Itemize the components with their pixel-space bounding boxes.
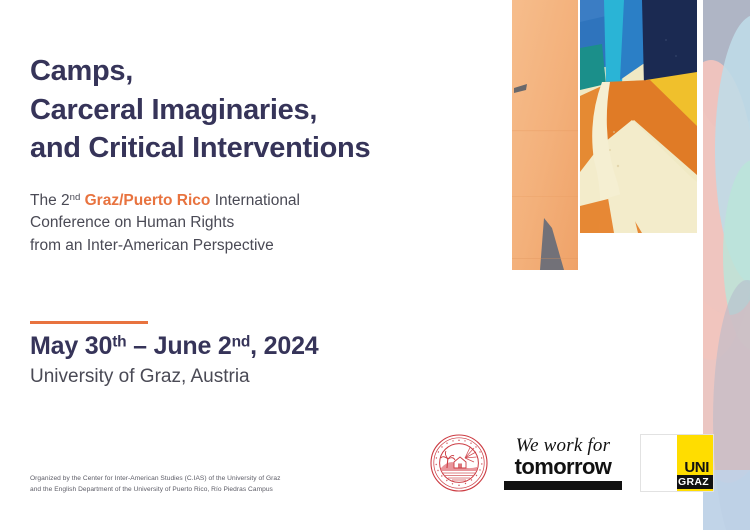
accent-divider: [30, 321, 148, 324]
wwft-line-1: We work for: [504, 436, 622, 455]
page-title: Camps, Carceral Imaginaries, and Critica…: [30, 52, 490, 168]
date-start-ordinal: th: [112, 333, 126, 350]
wwft-underline-bar: [504, 481, 622, 490]
uni-graz-logo: UNI GRAZ: [640, 434, 714, 492]
organizer-line-2: and the English Department of the Univer…: [30, 485, 280, 496]
we-work-for-tomorrow-logo: We work for tomorrow: [504, 436, 622, 490]
uni-graz-uni-text: UNI: [684, 460, 709, 475]
subtitle-line-3: from an Inter-American Perspective: [30, 235, 460, 257]
subtitle-prefix: The 2: [30, 192, 70, 209]
subtitle-line-2: Conference on Human Rights: [30, 212, 460, 234]
upr-seal-logo: [430, 434, 488, 492]
uni-graz-graz-text: GRAZ: [678, 477, 709, 488]
subtitle-ordinal: nd: [70, 192, 81, 203]
conference-dates: May 30th – June 2nd, 2024: [30, 332, 318, 361]
conference-poster: Camps, Carceral Imaginaries, and Critica…: [0, 0, 750, 530]
subtitle-line-1: The 2nd Graz/Puerto Rico International: [30, 190, 460, 212]
date-separator: –: [126, 332, 153, 360]
organizer-credits: Organized by the Center for Inter-Americ…: [30, 474, 280, 495]
wwft-line-2: tomorrow: [504, 455, 622, 478]
headline-line-2: Carceral Imaginaries,: [30, 91, 490, 130]
headline-line-3: and Critical Interventions: [30, 129, 490, 168]
date-end-ordinal: nd: [232, 333, 251, 350]
subtitle-accent: Graz/Puerto Rico: [85, 192, 211, 209]
date-start: May 30: [30, 332, 112, 360]
date-end: June 2: [154, 332, 232, 360]
headline-line-1: Camps,: [30, 52, 490, 91]
subtitle-suffix: International: [215, 192, 300, 209]
conference-subtitle: The 2nd Graz/Puerto Rico International C…: [30, 190, 460, 257]
logo-row: We work for tomorrow UNI GRAZ: [430, 432, 720, 494]
mural-photo-strip-orange: [512, 0, 578, 270]
conference-venue: University of Graz, Austria: [30, 366, 250, 388]
date-year: , 2024: [250, 332, 318, 360]
mural-photo-strip-colorful: [580, 0, 697, 233]
organizer-line-1: Organized by the Center for Inter-Americ…: [30, 474, 280, 485]
